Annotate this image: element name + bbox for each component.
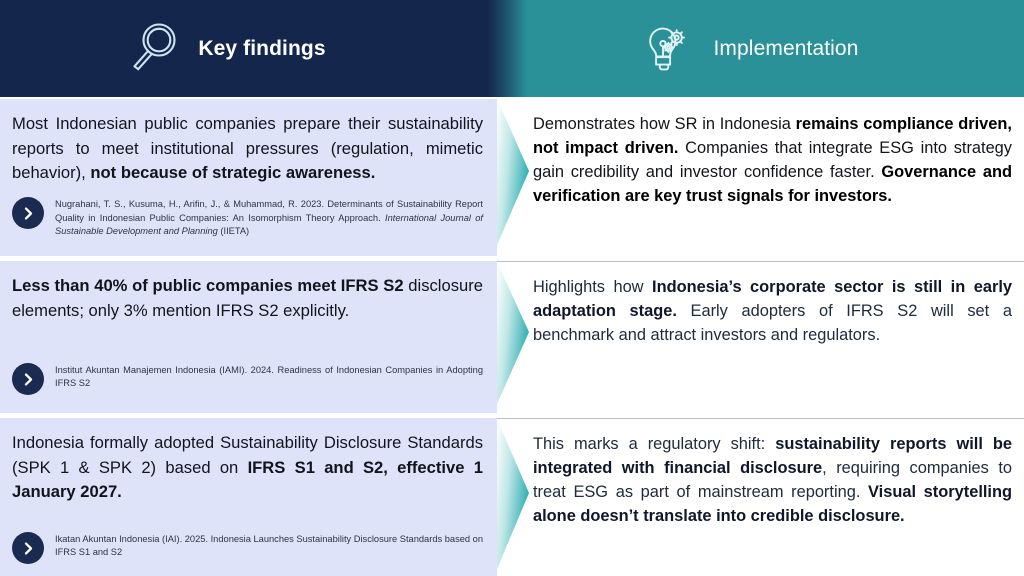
insight-plain-1: Highlights how	[533, 278, 652, 296]
citation-plain: Ikatan Akuntan Indonesia (IAI). 2025. In…	[55, 534, 483, 557]
citation-text: Institut Akuntan Manajemen Indonesia (IA…	[55, 362, 483, 390]
insight-plain-1: This marks a regulatory shift:	[533, 435, 775, 453]
finding-text: Indonesia formally adopted Sustainabilit…	[12, 431, 483, 505]
citation-text: Nugrahani, T. S., Kusuma, H., Arifin, J.…	[55, 196, 483, 238]
key-finding-cell: Most Indonesian public companies prepare…	[0, 99, 497, 256]
header-key-findings: Key findings	[0, 0, 512, 97]
chevron-right-icon	[12, 532, 44, 564]
content-grid: Most Indonesian public companies prepare…	[0, 97, 1024, 576]
table-row: Most Indonesian public companies prepare…	[0, 99, 1024, 256]
insight-text: This marks a regulatory shift: sustainab…	[533, 433, 1012, 529]
citation: Ikatan Akuntan Indonesia (IAI). 2025. In…	[12, 531, 483, 564]
header-key-findings-label: Key findings	[198, 37, 325, 61]
finding-bold: Less than 40% of public companies meet I…	[12, 276, 404, 295]
insight-plain-1: Demonstrates how SR in Indonesia	[533, 115, 796, 133]
table-row: Less than 40% of public companies meet I…	[0, 261, 1024, 413]
citation-text: Ikatan Akuntan Indonesia (IAI). 2025. In…	[55, 531, 483, 559]
slide-header-bar: Key findings	[0, 0, 1024, 97]
implementation-cell: Highlights how Indonesia’s corporate sec…	[497, 261, 1024, 413]
citation-publisher: (IIETA)	[220, 226, 249, 236]
key-finding-cell: Less than 40% of public companies meet I…	[0, 261, 497, 413]
citation-plain: Institut Akuntan Manajemen Indonesia (IA…	[55, 365, 483, 388]
chevron-accent-icon	[497, 99, 531, 256]
finding-text: Most Indonesian public companies prepare…	[12, 112, 483, 186]
insight-text: Demonstrates how SR in Indonesia remains…	[533, 113, 1012, 209]
table-row: Indonesia formally adopted Sustainabilit…	[0, 418, 1024, 576]
chevron-accent-icon	[497, 419, 531, 576]
citation: Institut Akuntan Manajemen Indonesia (IA…	[12, 362, 483, 395]
chevron-right-icon	[12, 363, 44, 395]
insight-text: Highlights how Indonesia’s corporate sec…	[533, 276, 1012, 348]
finding-bold: not because of strategic awareness.	[90, 163, 375, 182]
implementation-cell: Demonstrates how SR in Indonesia remains…	[497, 99, 1024, 256]
implementation-cell: This marks a regulatory shift: sustainab…	[497, 418, 1024, 576]
header-implementation-label: Implementation	[714, 37, 859, 61]
magnifier-icon	[122, 18, 184, 80]
lightbulb-gear-icon	[638, 18, 700, 80]
citation: Nugrahani, T. S., Kusuma, H., Arifin, J.…	[12, 196, 483, 238]
chevron-accent-icon	[497, 262, 531, 413]
chevron-right-icon	[12, 197, 44, 229]
key-finding-cell: Indonesia formally adopted Sustainabilit…	[0, 418, 497, 576]
finding-text: Less than 40% of public companies meet I…	[12, 274, 483, 323]
slide-root: Key findings	[0, 0, 1024, 576]
header-implementation: Implementation	[512, 0, 1024, 97]
